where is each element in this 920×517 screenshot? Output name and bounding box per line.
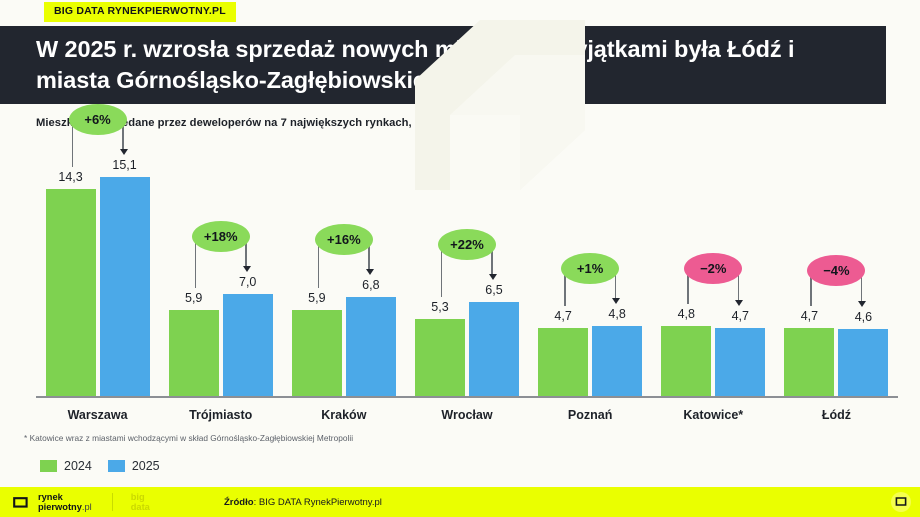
bar-value-label: 5,3 [431, 300, 448, 314]
bar-2025[interactable] [592, 326, 642, 396]
bar-group: 4,74,6−4% [775, 140, 898, 396]
rynekpierwotny-logo[interactable]: rynek pierwotny.pl big data [0, 492, 150, 513]
headline-band: W 2025 r. wzrosła sprzedaż nowych mieszk… [0, 26, 886, 104]
bar-value-label: 4,6 [855, 310, 872, 324]
bar-column: 5,9 [169, 140, 219, 396]
change-badge: +6% [69, 104, 127, 135]
bar-value-label: 4,7 [801, 309, 818, 323]
tag-bar: BIG DATA RYNEKPIERWOTNY.PL [0, 0, 920, 24]
x-axis-label: Katowice* [652, 408, 775, 422]
bar-value-label: 6,8 [362, 278, 379, 292]
connector-left [195, 240, 197, 288]
bar-value-label: 5,9 [308, 291, 325, 305]
connector-left [441, 248, 443, 297]
bar-2025[interactable] [223, 294, 273, 396]
x-axis-label: Łódź [775, 408, 898, 422]
source-label: Źródło [224, 497, 254, 508]
bar-column: 5,3 [415, 140, 465, 396]
bar-2024[interactable] [292, 310, 342, 396]
bar-2025[interactable] [715, 328, 765, 396]
x-axis-label: Wrocław [405, 408, 528, 422]
legend-swatch [108, 460, 125, 472]
bigdata-logo: big data [131, 492, 150, 513]
change-badge: −4% [807, 255, 865, 286]
x-axis-label: Kraków [282, 408, 405, 422]
arrow-head-icon [243, 266, 251, 272]
bar-column: 14,3 [46, 140, 96, 396]
bar-value-label: 15,1 [112, 158, 136, 172]
brand-line-2: pierwotny [38, 502, 82, 512]
bar-2024[interactable] [46, 189, 96, 396]
bar-column: 5,9 [292, 140, 342, 396]
x-axis-labels: WarszawaTrójmiastoKrakówWrocławPoznańKat… [36, 408, 898, 422]
page-title: W 2025 r. wzrosła sprzedaż nowych mieszk… [0, 34, 830, 95]
bar-2024[interactable] [661, 326, 711, 396]
legend-label: 2025 [132, 459, 160, 473]
connector-left [318, 243, 320, 288]
arrow-head-icon [489, 274, 497, 280]
bigdata-line-1: big [131, 492, 145, 502]
brand-tld: .pl [82, 502, 92, 512]
bar-column: 6,8 [346, 140, 396, 396]
bar-value-label: 6,5 [485, 283, 502, 297]
bar-2025[interactable] [469, 302, 519, 396]
change-badge: −2% [684, 253, 742, 284]
x-axis-line [36, 396, 898, 398]
x-axis-label: Warszawa [36, 408, 159, 422]
change-badge: +1% [561, 253, 619, 284]
bar-value-label: 4,8 [678, 307, 695, 321]
bar-value-label: 5,9 [185, 291, 202, 305]
arrow-head-icon [366, 269, 374, 275]
chart-footnote: * Katowice wraz z miastami wchodzącymi w… [24, 433, 353, 443]
arrow-head-icon [612, 298, 620, 304]
bar-pair: 5,96,8+16% [292, 140, 396, 396]
bar-pair: 14,315,1+6% [46, 140, 150, 396]
bar-2025[interactable] [100, 177, 150, 396]
bar-group: 5,97,0+18% [159, 140, 282, 396]
bar-pair: 4,74,8+1% [538, 140, 642, 396]
bigdata-line-2: data [131, 502, 150, 512]
bar-value-label: 4,7 [554, 309, 571, 323]
x-axis-label: Poznań [529, 408, 652, 422]
bar-column: 6,5 [469, 140, 519, 396]
bigdata-tag: BIG DATA RYNEKPIERWOTNY.PL [44, 2, 236, 22]
chart-legend: 20242025 [40, 459, 160, 473]
legend-label: 2024 [64, 459, 92, 473]
bar-group: 14,315,1+6% [36, 140, 159, 396]
change-badge: +22% [438, 229, 496, 260]
connector-left [72, 123, 74, 167]
source-value: : BIG DATA RynekPierwotny.pl [254, 497, 382, 508]
arrow-head-icon [120, 149, 128, 155]
legend-item[interactable]: 2025 [108, 459, 160, 473]
brand-line-1: rynek [38, 492, 63, 502]
legend-swatch [40, 460, 57, 472]
bar-value-label: 4,7 [732, 309, 749, 323]
bar-pair: 5,97,0+18% [169, 140, 273, 396]
infographic-page: BIG DATA RYNEKPIERWOTNY.PL W 2025 r. wzr… [0, 0, 920, 517]
bar-group: 4,84,7−2% [652, 140, 775, 396]
bar-2024[interactable] [538, 328, 588, 396]
legend-item[interactable]: 2024 [40, 459, 92, 473]
bar-2025[interactable] [838, 329, 888, 396]
change-badge: +18% [192, 221, 250, 252]
bar-group: 4,74,8+1% [529, 140, 652, 396]
brand-wordmark: rynek pierwotny.pl [38, 492, 92, 513]
source-note: Źródło: BIG DATA RynekPierwotny.pl [224, 497, 382, 508]
bar-pair: 4,74,6−4% [784, 140, 888, 396]
footer-bar: rynek pierwotny.pl big data Źródło: BIG … [0, 487, 920, 517]
bar-value-label: 7,0 [239, 275, 256, 289]
rynekpierwotny-mark-icon [12, 494, 29, 511]
arrow-head-icon [735, 300, 743, 306]
x-axis-label: Trójmiasto [159, 408, 282, 422]
bar-2024[interactable] [169, 310, 219, 396]
change-badge: +16% [315, 224, 373, 255]
bar-group: 5,36,5+22% [405, 140, 528, 396]
arrow-head-icon [858, 301, 866, 307]
bar-group: 5,96,8+16% [282, 140, 405, 396]
bar-column: 15,1 [100, 140, 150, 396]
bar-pair: 4,84,7−2% [661, 140, 765, 396]
bar-value-label: 4,8 [608, 307, 625, 321]
bar-2024[interactable] [784, 328, 834, 396]
bar-pair: 5,36,5+22% [415, 140, 519, 396]
bar-2024[interactable] [415, 319, 465, 396]
footer-divider [112, 493, 113, 511]
bar-value-label: 14,3 [58, 170, 82, 184]
corner-badge-icon[interactable] [891, 492, 911, 512]
bar-groups: 14,315,1+6%5,97,0+18%5,96,8+16%5,36,5+22… [36, 140, 898, 396]
bar-2025[interactable] [346, 297, 396, 396]
